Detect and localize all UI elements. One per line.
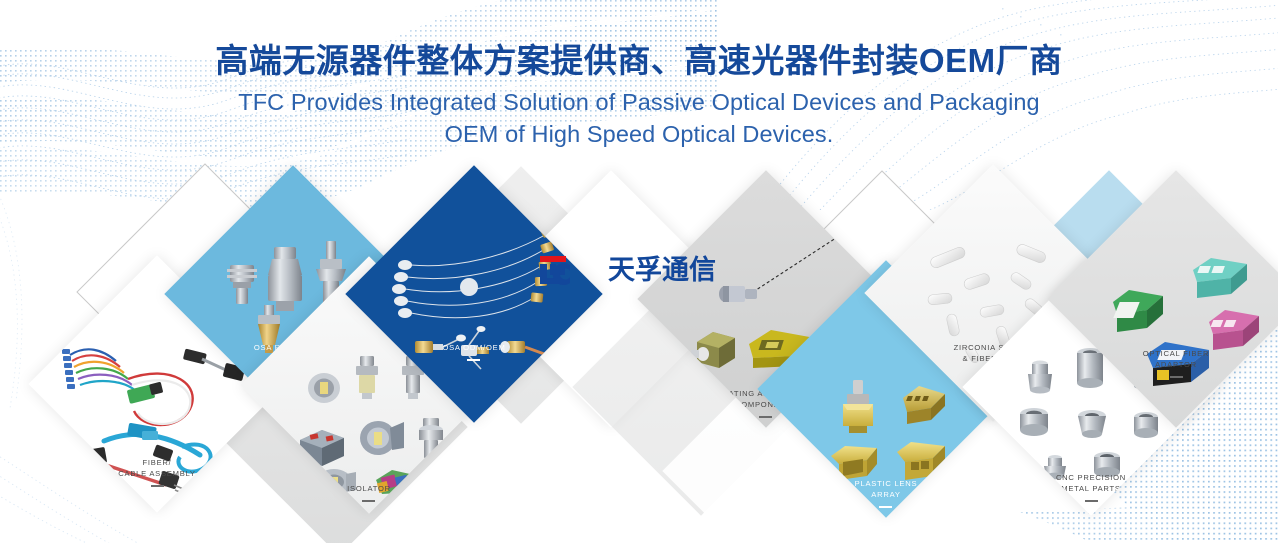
- subtitle-line-1: TFC Provides Integrated Solution of Pass…: [238, 89, 1039, 115]
- tile-rule: [879, 506, 892, 508]
- tile-rule: [759, 416, 772, 418]
- tile-rule: [467, 359, 480, 361]
- tile-label-isolator: ISOLATOR: [347, 484, 391, 495]
- page-subtitle: TFC Provides Integrated Solution of Pass…: [0, 87, 1278, 150]
- tile-label-optical-fiber-adaptor: OPTICAL FIBER ADAPTOR: [1143, 349, 1209, 371]
- tile-rule: [1170, 376, 1183, 378]
- tile-rule: [1085, 500, 1098, 502]
- tile-label-osa-odm-oem: OSA ODM/OEM: [442, 343, 505, 354]
- banner-hero: 高端无源器件整体方案提供商、高速光器件封装OEM厂商 TFC Provides …: [0, 0, 1278, 543]
- tile-label-cnc-precision-metal-parts: CNC PRECISION METAL PARTS: [1056, 473, 1126, 495]
- tile-label-fiber-cable-assembly: FIBER/ CABLE ASSEMBLY: [118, 458, 195, 480]
- tile-rule: [151, 485, 164, 487]
- tfc-wordmark-icon: [536, 255, 600, 285]
- subtitle-line-2: OEM of High Speed Optical Devices.: [0, 119, 1278, 150]
- tfc-chinese-name: 天孚通信: [608, 257, 716, 284]
- hero-headline: 高端无源器件整体方案提供商、高速光器件封装OEM厂商 TFC Provides …: [0, 40, 1278, 150]
- tile-rule: [362, 500, 375, 502]
- page-title: 高端无源器件整体方案提供商、高速光器件封装OEM厂商: [0, 40, 1278, 81]
- tfc-logo[interactable]: 天孚通信: [536, 255, 716, 285]
